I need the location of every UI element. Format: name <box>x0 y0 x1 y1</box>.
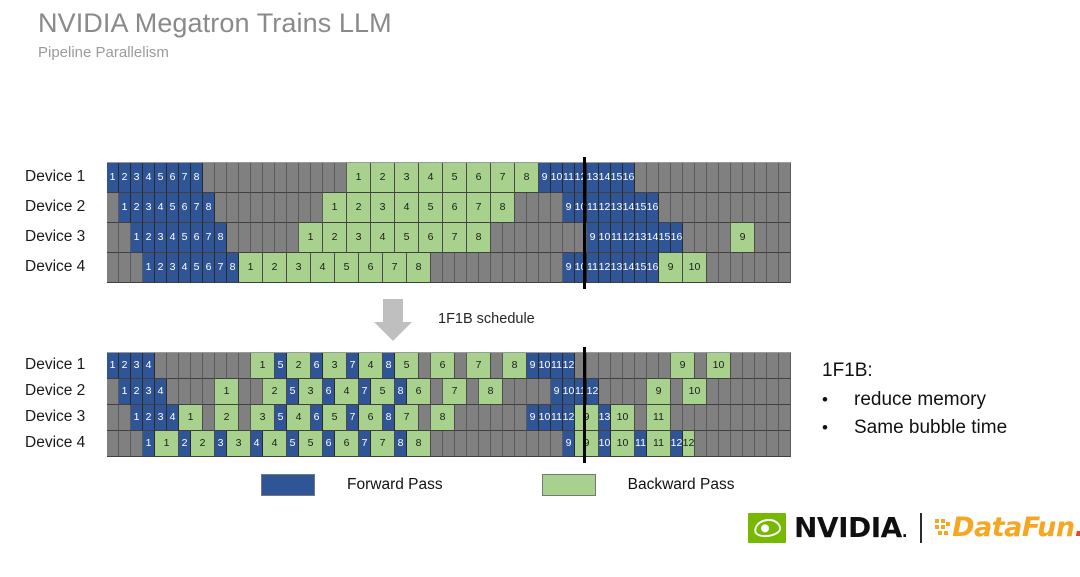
notes-panel: 1F1B: • reduce memory • Same bubble time <box>822 360 1007 439</box>
idle-cell <box>683 405 695 431</box>
forward-cell: 9 <box>587 223 599 253</box>
forward-cell: 7 <box>359 379 371 405</box>
idle-cell <box>167 379 179 405</box>
backward-cell: 9 <box>659 253 683 283</box>
forward-cell: 11 <box>587 253 599 283</box>
backward-cell: 7 <box>443 379 467 405</box>
idle-cell <box>239 353 251 379</box>
forward-cell: 12 <box>599 193 611 223</box>
forward-cell: 7 <box>359 431 371 457</box>
legend-backward: Backward Pass <box>542 474 735 496</box>
backward-cell: 10 <box>707 353 731 379</box>
backward-cell: 1 <box>215 379 239 405</box>
backward-cell: 6 <box>419 223 443 253</box>
bullet-icon: • <box>822 418 854 438</box>
slide-header: NVIDIA Megatron Trains LLM Pipeline Para… <box>38 8 392 61</box>
iteration-boundary-line <box>583 157 586 289</box>
forward-cell: 14 <box>647 223 659 253</box>
forward-cell: 3 <box>155 405 167 431</box>
idle-cell <box>779 431 791 457</box>
idle-cell <box>755 379 767 405</box>
idle-cell <box>707 163 719 193</box>
idle-cell <box>647 163 659 193</box>
forward-cell: 4 <box>251 431 263 457</box>
forward-cell: 1 <box>119 193 131 223</box>
forward-cell: 10 <box>539 405 551 431</box>
idle-cell <box>227 193 239 223</box>
backward-cell: 1 <box>347 163 371 193</box>
backward-cell: 11 <box>647 405 671 431</box>
backward-cell: 1 <box>251 353 275 379</box>
idle-cell <box>167 353 179 379</box>
idle-cell <box>659 353 671 379</box>
idle-cell <box>515 431 527 457</box>
forward-pass-swatch <box>261 474 315 496</box>
forward-cell: 2 <box>131 379 143 405</box>
idle-cell <box>431 431 443 457</box>
forward-cell: 1 <box>107 353 119 379</box>
schedule-row: 1234567812345678910111213141516910 <box>107 253 791 283</box>
idle-cell <box>515 405 527 431</box>
idle-cell <box>755 223 767 253</box>
idle-cell <box>611 379 623 405</box>
idle-cell <box>731 353 743 379</box>
device-label-3: Device 3 <box>25 222 107 252</box>
idle-cell <box>719 253 731 283</box>
idle-cell <box>239 379 251 405</box>
backward-cell: 10 <box>611 431 635 457</box>
backward-cell: 8 <box>467 223 491 253</box>
forward-cell: 1 <box>131 405 143 431</box>
idle-cell <box>731 253 743 283</box>
backward-cell: 7 <box>371 431 395 457</box>
backward-cell: 11 <box>647 431 671 457</box>
forward-cell: 9 <box>551 379 563 405</box>
forward-cell: 8 <box>191 163 203 193</box>
idle-cell <box>779 353 791 379</box>
idle-cell <box>419 353 431 379</box>
idle-cell <box>299 193 311 223</box>
forward-cell: 5 <box>275 353 287 379</box>
idle-cell <box>731 431 743 457</box>
backward-cell: 7 <box>443 223 467 253</box>
forward-cell: 6 <box>179 193 191 223</box>
forward-cell: 3 <box>131 353 143 379</box>
backward-cell: 3 <box>251 405 275 431</box>
idle-cell <box>755 163 767 193</box>
forward-cell: 1 <box>119 379 131 405</box>
idle-cell <box>695 163 707 193</box>
forward-cell: 13 <box>599 405 611 431</box>
idle-cell <box>767 379 779 405</box>
idle-cell <box>419 405 431 431</box>
idle-cell <box>671 405 683 431</box>
backward-pass-label: Backward Pass <box>628 476 735 494</box>
backward-cell: 1 <box>155 431 179 457</box>
idle-cell <box>551 193 563 223</box>
backward-cell: 6 <box>407 379 431 405</box>
forward-cell: 11 <box>551 353 563 379</box>
down-arrow-icon <box>374 299 412 341</box>
idle-cell <box>227 223 239 253</box>
idle-cell <box>767 253 779 283</box>
forward-cell: 11 <box>563 163 575 193</box>
forward-cell: 15 <box>635 193 647 223</box>
forward-cell: 6 <box>311 353 323 379</box>
backward-cell: 6 <box>443 193 467 223</box>
forward-cell: 16 <box>671 223 683 253</box>
forward-cell: 13 <box>635 223 647 253</box>
backward-cell: 8 <box>479 379 503 405</box>
forward-cell: 9 <box>563 431 575 457</box>
device-label-4: Device 4 <box>25 430 107 456</box>
backward-cell: 4 <box>287 405 311 431</box>
legend-forward: Forward Pass <box>261 474 443 496</box>
idle-cell <box>467 379 479 405</box>
idle-cell <box>491 353 503 379</box>
forward-cell: 4 <box>143 353 155 379</box>
idle-cell <box>671 163 683 193</box>
schedule-transition-label: 1F1B schedule <box>438 311 535 327</box>
schedule-row: 123412354657687891011129131011 <box>107 405 791 431</box>
backward-cell: 8 <box>491 193 515 223</box>
idle-cell <box>287 223 299 253</box>
idle-cell <box>299 163 311 193</box>
idle-cell <box>491 253 503 283</box>
idle-cell <box>107 405 119 431</box>
backward-cell: 5 <box>443 163 467 193</box>
idle-cell <box>203 353 215 379</box>
forward-cell: 3 <box>215 431 227 457</box>
forward-cell: 4 <box>155 193 167 223</box>
idle-cell <box>275 223 287 253</box>
idle-cell <box>239 193 251 223</box>
idle-cell <box>611 353 623 379</box>
backward-cell: 1 <box>239 253 263 283</box>
forward-cell: 11 <box>635 431 647 457</box>
footer-logos: NVIDIA. DataFun. <box>748 511 1080 544</box>
idle-cell <box>479 253 491 283</box>
idle-cell <box>191 353 203 379</box>
forward-cell: 6 <box>311 405 323 431</box>
backward-cell: 4 <box>371 223 395 253</box>
idle-cell <box>203 163 215 193</box>
backward-cell: 9 <box>731 223 755 253</box>
idle-cell <box>491 223 503 253</box>
idle-cell <box>251 193 263 223</box>
idle-cell <box>719 379 731 405</box>
idle-cell <box>119 431 131 457</box>
idle-cell <box>131 431 143 457</box>
backward-cell: 10 <box>611 405 635 431</box>
idle-cell <box>335 163 347 193</box>
forward-cell: 9 <box>527 405 539 431</box>
forward-cell: 12 <box>599 253 611 283</box>
idle-cell <box>107 379 119 405</box>
idle-cell <box>275 163 287 193</box>
forward-cell: 2 <box>119 163 131 193</box>
forward-cell: 3 <box>131 163 143 193</box>
idle-cell <box>707 253 719 283</box>
idle-cell <box>107 193 119 223</box>
forward-cell: 7 <box>191 193 203 223</box>
idle-cell <box>743 193 755 223</box>
forward-cell: 16 <box>647 253 659 283</box>
forward-cell: 14 <box>599 163 611 193</box>
forward-cell: 16 <box>623 163 635 193</box>
forward-cell: 2 <box>131 193 143 223</box>
backward-cell: 5 <box>299 431 323 457</box>
backward-cell: 6 <box>359 253 383 283</box>
idle-cell <box>479 405 491 431</box>
forward-cell: 8 <box>383 353 395 379</box>
backward-cell: 6 <box>359 405 383 431</box>
forward-cell: 10 <box>551 163 563 193</box>
idle-cell <box>587 353 599 379</box>
idle-cell <box>695 353 707 379</box>
page-title: NVIDIA Megatron Trains LLM <box>38 8 392 39</box>
idle-cell <box>743 405 755 431</box>
forward-cell: 5 <box>287 431 299 457</box>
idle-cell <box>179 379 191 405</box>
forward-cell: 5 <box>155 163 167 193</box>
backward-cell: 7 <box>467 193 491 223</box>
schedule-row: 1234567812345678910111213141516 <box>107 163 791 193</box>
nvidia-wordmark-dot: . <box>902 523 907 541</box>
idle-cell <box>251 223 263 253</box>
forward-cell: 1 <box>131 223 143 253</box>
backward-pass-swatch <box>542 474 596 496</box>
forward-cell: 1 <box>143 431 155 457</box>
datafun-wordmark-text: DataFun <box>952 512 1075 543</box>
idle-cell <box>503 431 515 457</box>
backward-cell: 5 <box>395 353 419 379</box>
idle-cell <box>515 253 527 283</box>
idle-cell <box>779 379 791 405</box>
idle-cell <box>779 193 791 223</box>
backward-cell: 6 <box>431 353 455 379</box>
backward-cell: 2 <box>323 223 347 253</box>
idle-cell <box>707 405 719 431</box>
forward-cell: 10 <box>539 353 551 379</box>
idle-cell <box>203 405 215 431</box>
idle-cell <box>191 379 203 405</box>
forward-cell: 6 <box>203 253 215 283</box>
idle-cell <box>431 253 443 283</box>
idle-cell <box>179 353 191 379</box>
backward-cell: 6 <box>467 163 491 193</box>
idle-cell <box>539 193 551 223</box>
idle-cell <box>767 353 779 379</box>
idle-cell <box>131 253 143 283</box>
idle-cell <box>599 379 611 405</box>
forward-cell: 15 <box>659 223 671 253</box>
idle-cell <box>215 193 227 223</box>
bullet-icon: • <box>822 390 854 410</box>
idle-cell <box>659 193 671 223</box>
nvidia-wordmark-text: NVIDIA <box>794 511 902 544</box>
backward-cell: 8 <box>407 431 431 457</box>
idle-cell <box>311 193 323 223</box>
idle-cell <box>671 193 683 223</box>
idle-cell <box>695 193 707 223</box>
forward-cell: 2 <box>143 405 155 431</box>
idle-cell <box>707 193 719 223</box>
backward-cell: 5 <box>371 379 395 405</box>
idle-cell <box>695 405 707 431</box>
idle-cell <box>731 379 743 405</box>
forward-cell: 2 <box>155 253 167 283</box>
idle-cell <box>287 193 299 223</box>
notes-title: 1F1B: <box>822 360 1007 382</box>
idle-cell <box>107 223 119 253</box>
forward-cell: 4 <box>155 379 167 405</box>
idle-cell <box>743 163 755 193</box>
idle-cell <box>263 223 275 253</box>
idle-cell <box>695 223 707 253</box>
forward-cell: 1 <box>143 253 155 283</box>
nvidia-eye-icon <box>748 513 786 543</box>
forward-cell: 12 <box>563 353 575 379</box>
idle-cell <box>479 431 491 457</box>
forward-cell: 14 <box>623 193 635 223</box>
backward-cell: 6 <box>335 431 359 457</box>
nvidia-eye-shape <box>752 517 781 539</box>
idle-cell <box>755 253 767 283</box>
idle-cell <box>623 379 635 405</box>
forward-cell: 12 <box>671 431 683 457</box>
idle-cell <box>719 405 731 431</box>
forward-cell: 3 <box>143 379 155 405</box>
forward-cell: 11 <box>587 193 599 223</box>
forward-cell: 6 <box>323 379 335 405</box>
backward-cell: 9 <box>575 405 599 431</box>
device-label-column-gpipe: Device 1Device 2Device 3Device 4 <box>25 162 107 282</box>
idle-cell <box>239 223 251 253</box>
idle-cell <box>719 193 731 223</box>
forward-cell: 13 <box>587 163 599 193</box>
forward-cell: 4 <box>167 405 179 431</box>
idle-cell <box>503 223 515 253</box>
note-text: reduce memory <box>854 389 986 411</box>
idle-cell <box>707 431 719 457</box>
forward-cell: 7 <box>215 253 227 283</box>
backward-cell: 4 <box>419 163 443 193</box>
backward-cell: 7 <box>383 253 407 283</box>
backward-cell: 2 <box>347 193 371 223</box>
idle-cell <box>539 431 551 457</box>
idle-cell <box>755 353 767 379</box>
idle-cell <box>647 353 659 379</box>
idle-cell <box>515 379 527 405</box>
forward-cell: 3 <box>143 193 155 223</box>
idle-cell <box>551 431 563 457</box>
backward-cell: 4 <box>335 379 359 405</box>
note-item: • reduce memory <box>822 389 1007 411</box>
idle-cell <box>707 379 719 405</box>
idle-cell <box>251 379 263 405</box>
forward-cell: 4 <box>167 223 179 253</box>
backward-cell: 4 <box>395 193 419 223</box>
idle-cell <box>743 379 755 405</box>
idle-cell <box>455 431 467 457</box>
idle-cell <box>443 431 455 457</box>
idle-cell <box>635 379 647 405</box>
idle-cell <box>779 253 791 283</box>
idle-cell <box>695 431 707 457</box>
idle-cell <box>683 193 695 223</box>
forward-cell: 8 <box>395 431 407 457</box>
gpipe-grid: 1234567812345678910111213141516123456781… <box>107 162 791 283</box>
arrow-head <box>374 322 412 341</box>
forward-cell: 10 <box>563 379 575 405</box>
backward-cell: 1 <box>299 223 323 253</box>
idle-cell <box>683 163 695 193</box>
idle-cell <box>551 253 563 283</box>
forward-cell: 10 <box>599 223 611 253</box>
forward-cell: 8 <box>227 253 239 283</box>
backward-cell: 5 <box>323 405 347 431</box>
idle-cell <box>227 163 239 193</box>
forward-pass-label: Forward Pass <box>347 476 443 494</box>
idle-cell <box>539 223 551 253</box>
idle-cell <box>503 379 515 405</box>
idle-cell <box>731 193 743 223</box>
idle-cell <box>743 253 755 283</box>
idle-cell <box>311 163 323 193</box>
idle-cell <box>539 253 551 283</box>
idle-cell <box>467 431 479 457</box>
idle-cell <box>323 163 335 193</box>
logo-separator <box>920 513 922 543</box>
idle-cell <box>635 163 647 193</box>
forward-cell: 5 <box>167 193 179 223</box>
backward-cell: 3 <box>287 253 311 283</box>
idle-cell <box>239 163 251 193</box>
backward-cell: 10 <box>683 379 707 405</box>
forward-cell: 8 <box>203 193 215 223</box>
idle-cell <box>527 379 539 405</box>
forward-cell: 11 <box>611 223 623 253</box>
backward-cell: 2 <box>215 405 239 431</box>
forward-cell: 11 <box>551 405 563 431</box>
backward-cell: 2 <box>371 163 395 193</box>
backward-cell: 4 <box>263 431 287 457</box>
backward-cell: 2 <box>287 353 311 379</box>
idle-cell <box>227 353 239 379</box>
backward-cell: 5 <box>419 193 443 223</box>
forward-cell: 6 <box>323 431 335 457</box>
backward-cell: 2 <box>263 379 287 405</box>
backward-cell: 5 <box>335 253 359 283</box>
idle-cell <box>455 405 467 431</box>
idle-cell <box>491 431 503 457</box>
forward-cell: 4 <box>143 163 155 193</box>
device-label-1: Device 1 <box>25 162 107 192</box>
idle-cell <box>779 405 791 431</box>
idle-cell <box>563 223 575 253</box>
idle-cell <box>239 405 251 431</box>
backward-cell: 4 <box>359 353 383 379</box>
idle-cell <box>455 253 467 283</box>
idle-cell <box>767 405 779 431</box>
idle-cell <box>779 163 791 193</box>
backward-cell: 3 <box>227 431 251 457</box>
idle-cell <box>767 431 779 457</box>
forward-cell: 5 <box>287 379 299 405</box>
forward-cell: 5 <box>275 405 287 431</box>
backward-cell: 3 <box>323 353 347 379</box>
